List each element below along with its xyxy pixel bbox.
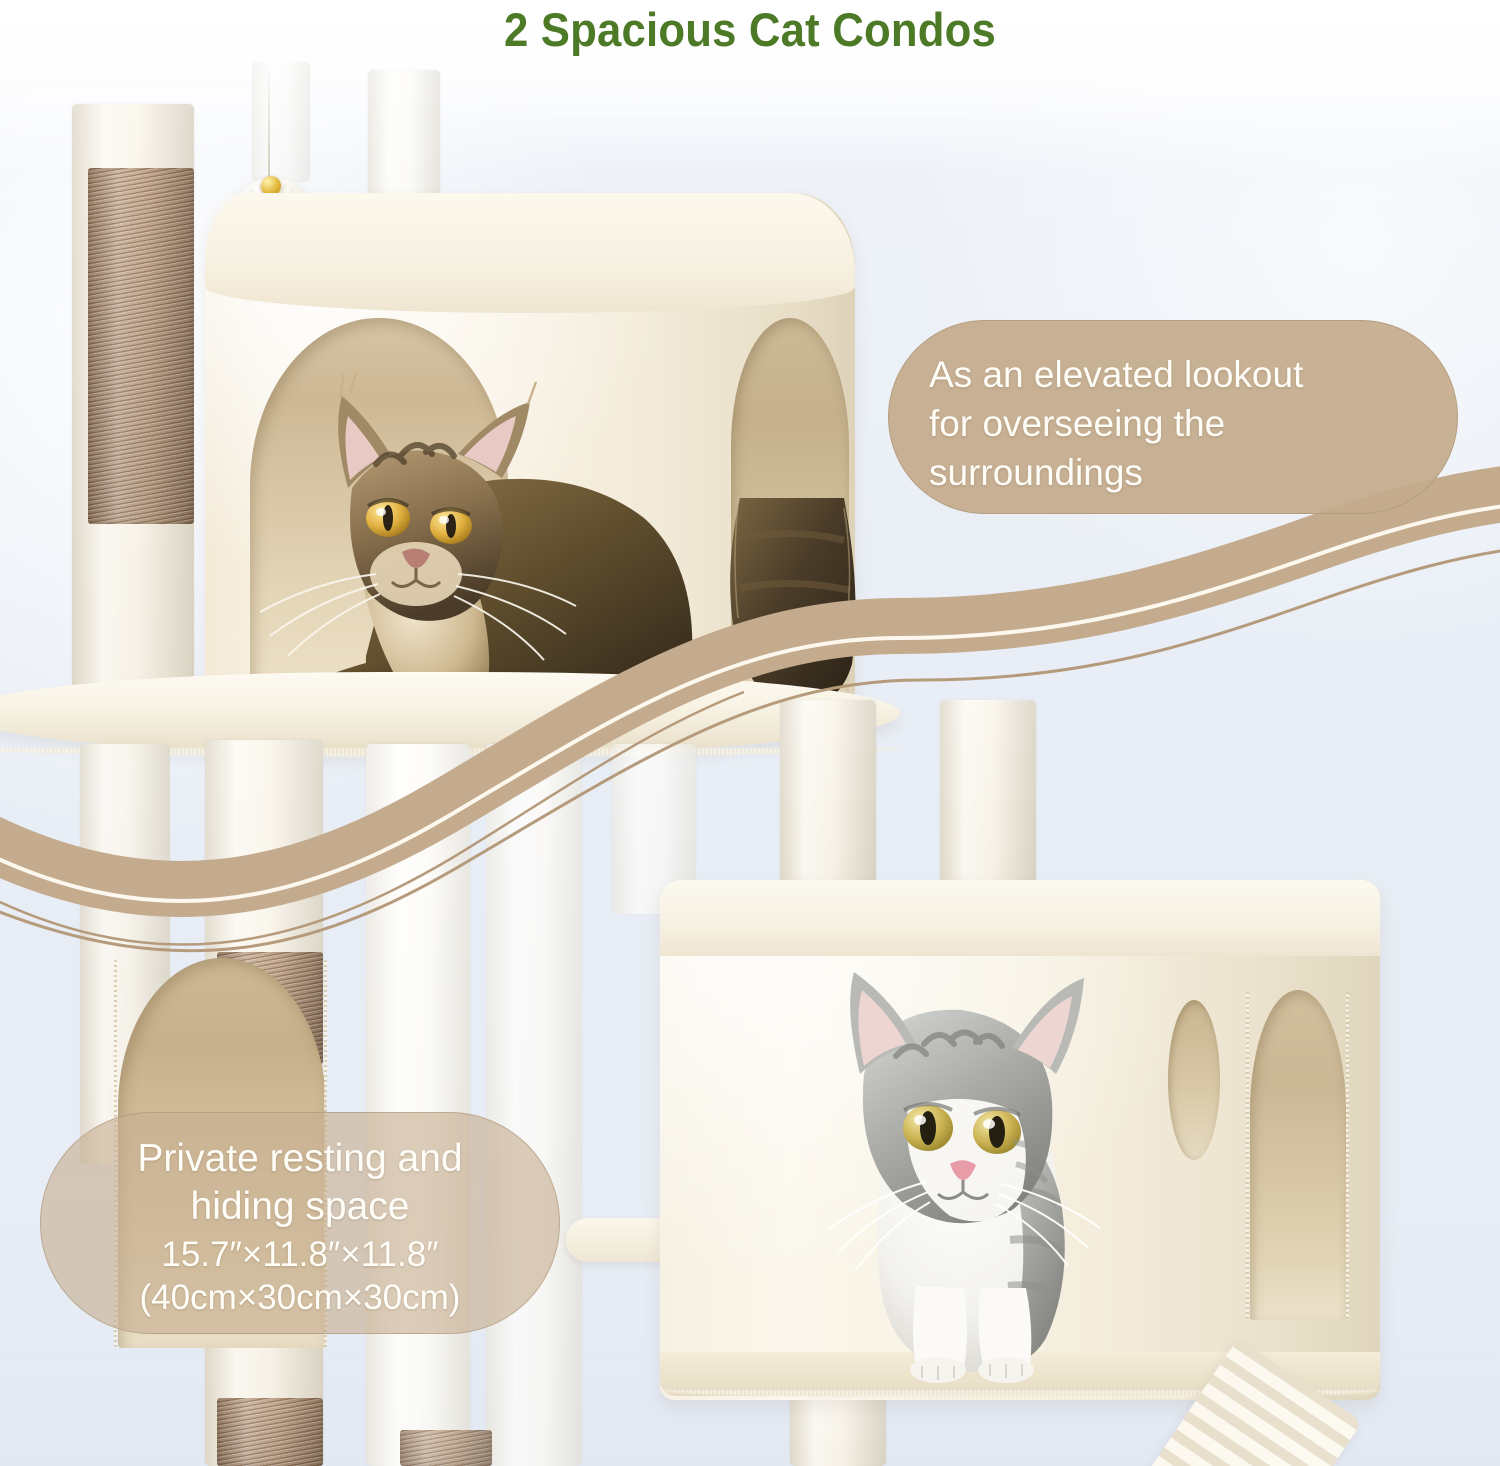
sisal-scratching-post: [400, 1430, 492, 1466]
private-resting-callout: Private resting and hiding space 15.7″×1…: [40, 1112, 560, 1334]
callout-line-2: hiding space: [71, 1183, 529, 1231]
elevated-lookout-callout: As an elevated lookout for overseeing th…: [888, 320, 1458, 514]
sisal-scratching-post: [217, 1398, 323, 1466]
plush-support-post: [780, 700, 876, 900]
lower-condo-roof: [660, 880, 1380, 956]
sisal-scratching-post: [88, 168, 194, 524]
lower-condo-oval-peephole: [1168, 1000, 1220, 1160]
toy-hanging-string: [268, 70, 270, 182]
stitch-seam: [1246, 992, 1249, 1320]
callout-dimensions-cm: (40cm×30cm×30cm): [71, 1277, 529, 1320]
plush-support-post: [940, 700, 1036, 900]
round-plush-platform: [0, 672, 900, 754]
stitch-seam: [1346, 992, 1349, 1320]
page-title: 2 Spacious Cat Condos: [53, 2, 1448, 57]
callout-line-3: surroundings: [929, 449, 1421, 498]
callout-line-1: Private resting and: [71, 1135, 529, 1183]
plush-support-post: [252, 62, 310, 182]
lower-cat: [800, 952, 1160, 1392]
product-feature-image: 2 Spacious Cat Condos As an elevated loo…: [0, 0, 1500, 1466]
plush-support-post: [790, 1392, 886, 1466]
lower-condo-right-arch-opening: [1250, 990, 1346, 1320]
callout-line-1: As an elevated lookout: [929, 351, 1421, 400]
upper-condo-roof: [205, 193, 855, 313]
callout-line-2: for overseeing the: [929, 400, 1421, 449]
plush-support-post: [366, 744, 470, 1466]
plush-support-post: [486, 744, 582, 1466]
callout-dimensions-inches: 15.7″×11.8″×11.8″: [71, 1234, 529, 1277]
